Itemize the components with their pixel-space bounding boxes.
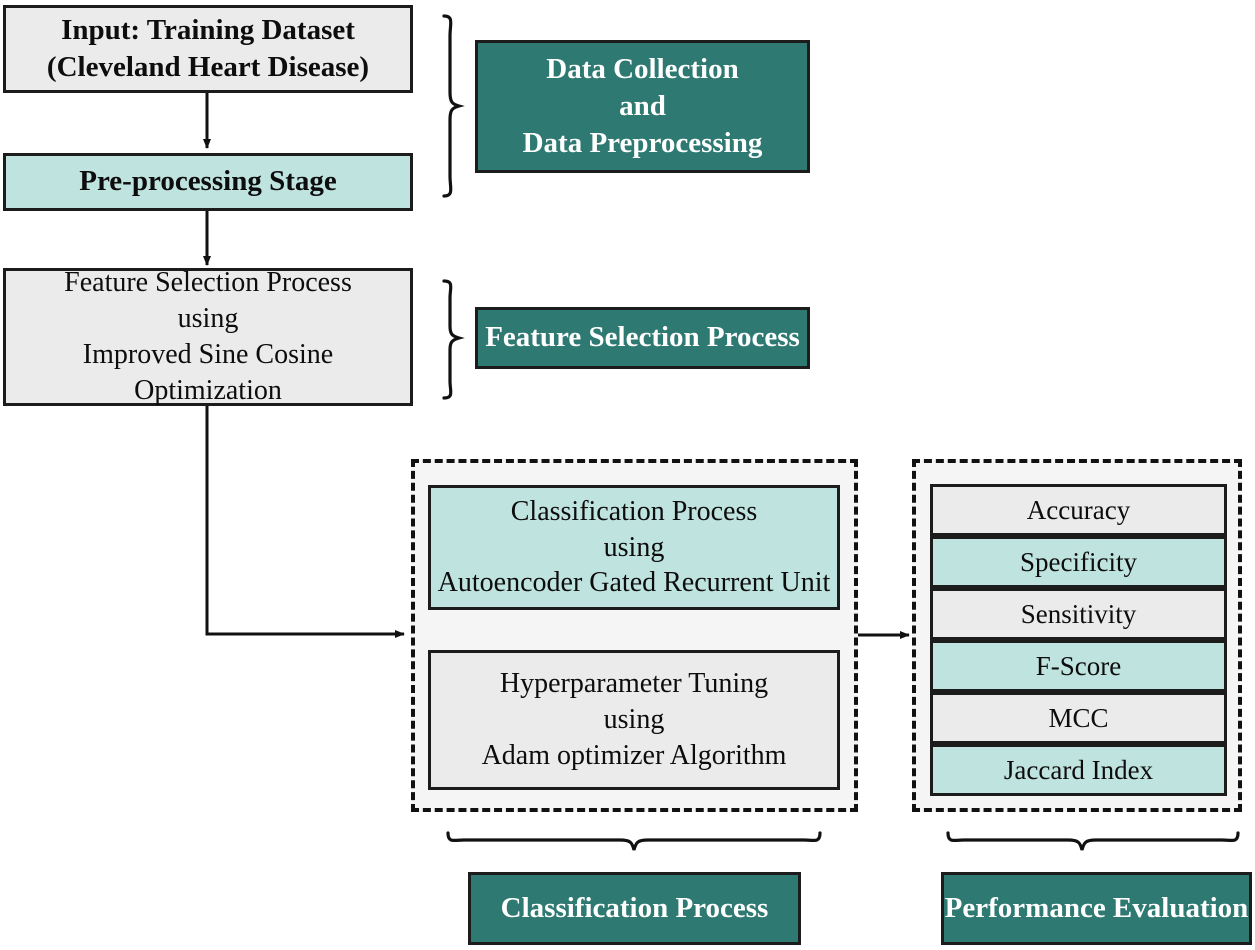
metric-label: F-Score [1036,651,1121,682]
data-collection-line-2: and [619,88,666,125]
feature-selection-line-3: Improved Sine Cosine Optimization [6,337,410,409]
input-dataset-box[interactable]: Input: Training Dataset (Cleveland Heart… [3,5,413,93]
stage-label-feature-selection[interactable]: Feature Selection Process [475,307,810,369]
stage-label-data-collection[interactable]: Data Collection and Data Preprocessing [475,40,810,173]
metric-label: Jaccard Index [1004,755,1153,786]
arrow-featureselection-to-classification [207,406,404,634]
data-collection-line-1: Data Collection [546,51,739,88]
flowchart-canvas: Input: Training Dataset (Cleveland Heart… [0,0,1255,950]
feature-selection-line-2: using [178,301,239,337]
metric-row[interactable]: MCC [930,692,1227,744]
metric-label: Sensitivity [1021,599,1137,630]
classification-line-3: Autoencoder Gated Recurrent Unit [438,565,831,601]
brace-classification [448,833,820,850]
metric-label: MCC [1048,703,1108,734]
stage-label-performance-evaluation-text: Performance Evaluation [945,890,1249,927]
metric-row[interactable]: Accuracy [930,484,1227,536]
stage-label-classification-text: Classification Process [501,890,769,927]
metric-label: Accuracy [1027,495,1130,526]
preprocessing-stage-box[interactable]: Pre-processing Stage [3,153,413,211]
feature-selection-box[interactable]: Feature Selection Process using Improved… [3,268,413,406]
classification-process-box[interactable]: Classification Process using Autoencoder… [428,485,840,610]
stage-label-classification[interactable]: Classification Process [468,872,801,945]
brace-data-collection [444,16,459,196]
metric-label: Specificity [1020,547,1137,578]
preprocessing-stage-label: Pre-processing Stage [79,163,336,200]
stage-label-feature-selection-text: Feature Selection Process [485,319,800,356]
input-dataset-line-2: (Cleveland Heart Disease) [47,49,369,86]
metric-row[interactable]: Jaccard Index [930,744,1227,796]
data-collection-line-3: Data Preprocessing [523,125,763,162]
hyperparameter-tuning-box[interactable]: Hyperparameter Tuning using Adam optimiz… [428,650,840,790]
metric-row[interactable]: F-Score [930,640,1227,692]
classification-line-2: using [604,530,665,566]
stage-label-performance-evaluation[interactable]: Performance Evaluation [941,872,1252,945]
classification-line-1: Classification Process [511,494,758,530]
brace-feature-selection [444,281,459,398]
hyperparameter-line-2: using [604,702,665,738]
hyperparameter-line-3: Adam optimizer Algorithm [482,738,787,774]
feature-selection-line-1: Feature Selection Process [64,265,352,301]
input-dataset-line-1: Input: Training Dataset [61,12,355,49]
hyperparameter-line-1: Hyperparameter Tuning [500,666,768,702]
metric-row[interactable]: Specificity [930,536,1227,588]
metric-row[interactable]: Sensitivity [930,588,1227,640]
brace-performance-evaluation [948,833,1238,850]
